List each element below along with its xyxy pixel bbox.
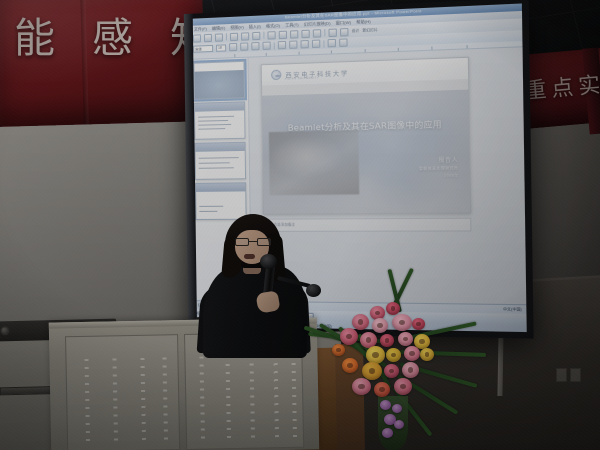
italic-icon[interactable] [240, 42, 248, 50]
flower-bloom [398, 332, 413, 346]
slide-thumbnail[interactable] [193, 61, 245, 100]
lecture-hall-photo: 能 感 知 部重点实验 Beamlet分析及其在SAR图像中的应用.ppt - … [0, 0, 600, 450]
align-left-icon[interactable] [278, 41, 286, 49]
spellcheck-icon[interactable] [252, 31, 260, 39]
floral-arrangement [306, 300, 492, 450]
toolbar-separator [226, 33, 227, 40]
flower-bloom [332, 344, 345, 356]
flower-bloom [352, 314, 369, 330]
toolbar-separator [323, 40, 324, 47]
speaker [197, 214, 315, 352]
glasses-bridge [249, 241, 257, 242]
university-subtitle: XIDIAN UNIVERSITY [284, 77, 319, 81]
slide-presenter-block: 报告人 智能信息处理研究所 2008年 [419, 155, 459, 177]
paste-icon[interactable] [290, 30, 298, 39]
bullets-icon[interactable] [300, 40, 308, 49]
flower-bloom [402, 362, 419, 378]
presenter-name: 报告人 [419, 155, 458, 164]
design-button[interactable]: 设计 [352, 29, 360, 34]
flower-chrysanthemum [420, 348, 434, 361]
flower-lily [392, 314, 412, 331]
decrease-font-icon[interactable] [339, 38, 348, 47]
underline-icon[interactable] [251, 42, 259, 50]
toolbar-separator [263, 32, 264, 39]
orchid-bloom [392, 404, 402, 413]
electrical-outlet [570, 368, 581, 382]
presenter-date: 2008年 [419, 172, 458, 178]
slide-thumbnail[interactable] [194, 142, 246, 180]
console-panel-left [65, 334, 180, 450]
shadow-icon[interactable] [262, 42, 270, 50]
font-size-combo[interactable]: 18 [216, 44, 226, 51]
bold-icon[interactable] [229, 43, 237, 51]
flower-bloom [384, 364, 399, 378]
lens-right [257, 238, 271, 246]
speaker-mouth [244, 254, 255, 259]
toolbar-separator [274, 42, 275, 49]
slide-thumbnail[interactable] [194, 101, 246, 140]
thumbnail-title-bar [196, 183, 245, 192]
menu-insert[interactable]: 插入(I) [249, 23, 261, 30]
flower-bloom [404, 346, 420, 361]
orchid-bloom [394, 420, 404, 429]
second-microphone-icon [306, 284, 321, 297]
flower-chrysanthemum [386, 348, 401, 362]
presenter-affiliation: 智能信息处理研究所 [419, 165, 458, 171]
language-indicator: 中文(中国) [503, 307, 522, 313]
align-center-icon[interactable] [289, 40, 297, 49]
insert-table-icon[interactable] [328, 28, 337, 37]
insert-chart-icon[interactable] [340, 28, 349, 37]
lens-left [235, 238, 249, 246]
flower-bloom [386, 302, 400, 315]
new-file-icon[interactable] [193, 34, 201, 42]
flower-gerbera [394, 378, 412, 395]
thumbnail-title-bar [195, 143, 244, 152]
copy-icon[interactable] [279, 30, 287, 39]
flower-bloom [340, 328, 358, 345]
flower-bloom [342, 358, 358, 373]
current-slide[interactable]: 西安电子科技大学 XIDIAN UNIVERSITY Beamlet分析及其在S… [261, 57, 471, 215]
flower-gerbera [352, 378, 371, 395]
thumbnail-preview [194, 70, 243, 100]
save-disk-icon[interactable] [215, 33, 223, 41]
orchid-bloom [380, 400, 391, 410]
print-icon[interactable] [230, 32, 238, 40]
flower-bloom [372, 318, 388, 333]
font-name-combo[interactable]: 宋体 [193, 44, 213, 52]
university-emblem-icon [271, 70, 281, 81]
orchid-bloom [382, 428, 393, 438]
numbering-icon[interactable] [312, 40, 320, 49]
undo-arrow-icon[interactable] [301, 29, 309, 38]
cut-scissors-icon[interactable] [267, 31, 275, 39]
redo-arrow-icon[interactable] [313, 29, 321, 38]
slide-inset-photo [269, 130, 359, 195]
eyeglasses-icon [235, 238, 271, 247]
toolbar-separator [324, 29, 325, 36]
banner-left-text: 能 感 知 [14, 4, 209, 64]
thumbnail-title-bar [195, 102, 244, 111]
flower-gerbera [362, 362, 382, 380]
open-folder-icon[interactable] [204, 33, 212, 41]
flower-bloom [380, 334, 394, 347]
increase-font-icon[interactable] [328, 39, 337, 48]
print-preview-icon[interactable] [241, 32, 249, 40]
flower-bloom [374, 382, 390, 397]
new-slide-button[interactable]: 新幻灯片 [362, 28, 377, 34]
flower-bloom [412, 318, 425, 330]
electrical-outlet [556, 368, 567, 382]
microphone-icon [260, 254, 277, 269]
